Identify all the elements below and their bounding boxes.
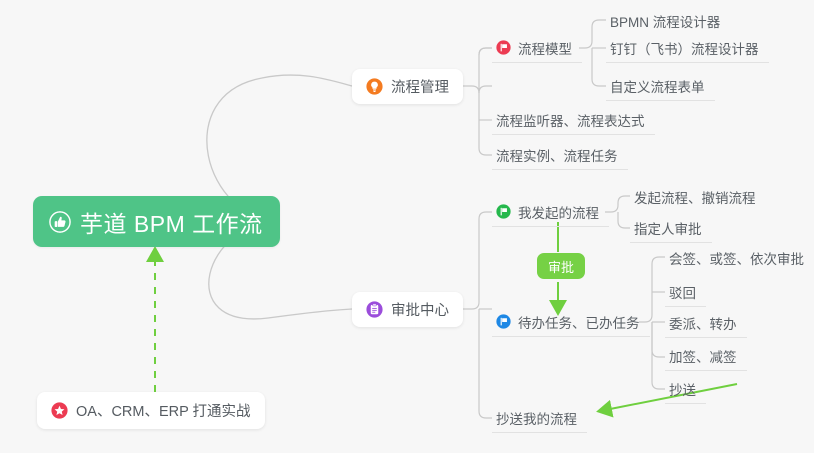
node-label: 会签、或签、依次审批 <box>669 248 804 268</box>
branch-label: 流程管理 <box>391 76 449 97</box>
clipboard-icon <box>366 301 383 318</box>
node-label: 自定义流程表单 <box>610 76 705 96</box>
node-reject[interactable]: 驳回 <box>665 277 706 307</box>
node-process-instance[interactable]: 流程实例、流程任务 <box>492 140 628 170</box>
lightbulb-icon <box>366 78 383 95</box>
connector-process-management-stem-up <box>479 48 492 93</box>
node-assignee-approval[interactable]: 指定人审批 <box>630 213 712 243</box>
node-label: 抄送我的流程 <box>496 408 577 428</box>
node-label: 加签、减签 <box>669 346 737 366</box>
mindmap-canvas: 芋道 BPM 工作流 流程管理 流程模型 BPMN 流程设计器 钉钉（飞书）流程… <box>0 0 814 453</box>
root-node[interactable]: 芋道 BPM 工作流 <box>33 196 280 247</box>
node-label: 流程实例、流程任务 <box>496 145 618 165</box>
floating-node-integration[interactable]: OA、CRM、ERP 打通实战 <box>37 392 265 429</box>
connector-approval-center-child-3 <box>479 309 492 418</box>
floating-node-label: OA、CRM、ERP 打通实战 <box>76 400 251 421</box>
node-cc-my-processes[interactable]: 抄送我的流程 <box>492 403 587 433</box>
branch-label: 审批中心 <box>391 299 449 320</box>
node-label: 抄送 <box>669 379 696 399</box>
node-label: 钉钉（飞书）流程设计器 <box>610 38 759 58</box>
node-label: 驳回 <box>669 282 696 302</box>
root-label: 芋道 BPM 工作流 <box>80 205 263 239</box>
branch-approval-center[interactable]: 审批中心 <box>352 292 463 327</box>
connector-process-management-branch-model <box>479 48 492 93</box>
flag-icon <box>496 314 511 329</box>
node-label: 委派、转办 <box>669 313 737 333</box>
node-start-cancel-process[interactable]: 发起流程、撤销流程 <box>630 182 766 212</box>
node-add-remove-sign[interactable]: 加签、减签 <box>665 341 747 371</box>
annotation-label: 审批 <box>548 257 574 276</box>
node-label: 发起流程、撤销流程 <box>634 187 756 207</box>
node-custom-form[interactable]: 自定义流程表单 <box>606 71 715 101</box>
branch-process-management[interactable]: 流程管理 <box>352 69 463 104</box>
node-countersign[interactable]: 会签、或签、依次审批 <box>665 243 814 273</box>
node-label: BPMN 流程设计器 <box>610 11 720 31</box>
node-bpmn-designer[interactable]: BPMN 流程设计器 <box>606 6 730 36</box>
connector-todo-child-5 <box>652 322 665 389</box>
node-label: 流程监听器、流程表达式 <box>496 110 645 130</box>
annotation-tag-approval: 审批 <box>537 253 585 279</box>
connector-process-model-child-3 <box>592 48 606 86</box>
node-label: 指定人审批 <box>634 218 702 238</box>
node-process-listener[interactable]: 流程监听器、流程表达式 <box>492 105 655 135</box>
node-label: 流程模型 <box>518 38 572 58</box>
node-label: 待办任务、已办任务 <box>518 312 640 332</box>
node-dingtalk-designer[interactable]: 钉钉（飞书）流程设计器 <box>606 33 769 63</box>
node-process-model[interactable]: 流程模型 <box>492 33 582 63</box>
connector-approval-center-spine <box>461 212 492 309</box>
flag-icon <box>496 40 511 55</box>
node-my-initiated-processes[interactable]: 我发起的流程 <box>492 197 609 227</box>
thumbs-up-icon <box>49 211 71 233</box>
node-delegate-transfer[interactable]: 委派、转办 <box>665 308 747 338</box>
node-label: 我发起的流程 <box>518 202 599 222</box>
connector-my-processes-child-2 <box>618 212 630 228</box>
connector-process-management-spine <box>461 86 492 155</box>
star-icon <box>51 402 68 419</box>
connector-todo-child-4 <box>652 322 665 357</box>
connector-process-model-spine <box>579 20 606 48</box>
node-cc[interactable]: 抄送 <box>665 374 706 404</box>
node-todo-done-tasks[interactable]: 待办任务、已办任务 <box>492 307 650 337</box>
flag-icon <box>496 204 511 219</box>
